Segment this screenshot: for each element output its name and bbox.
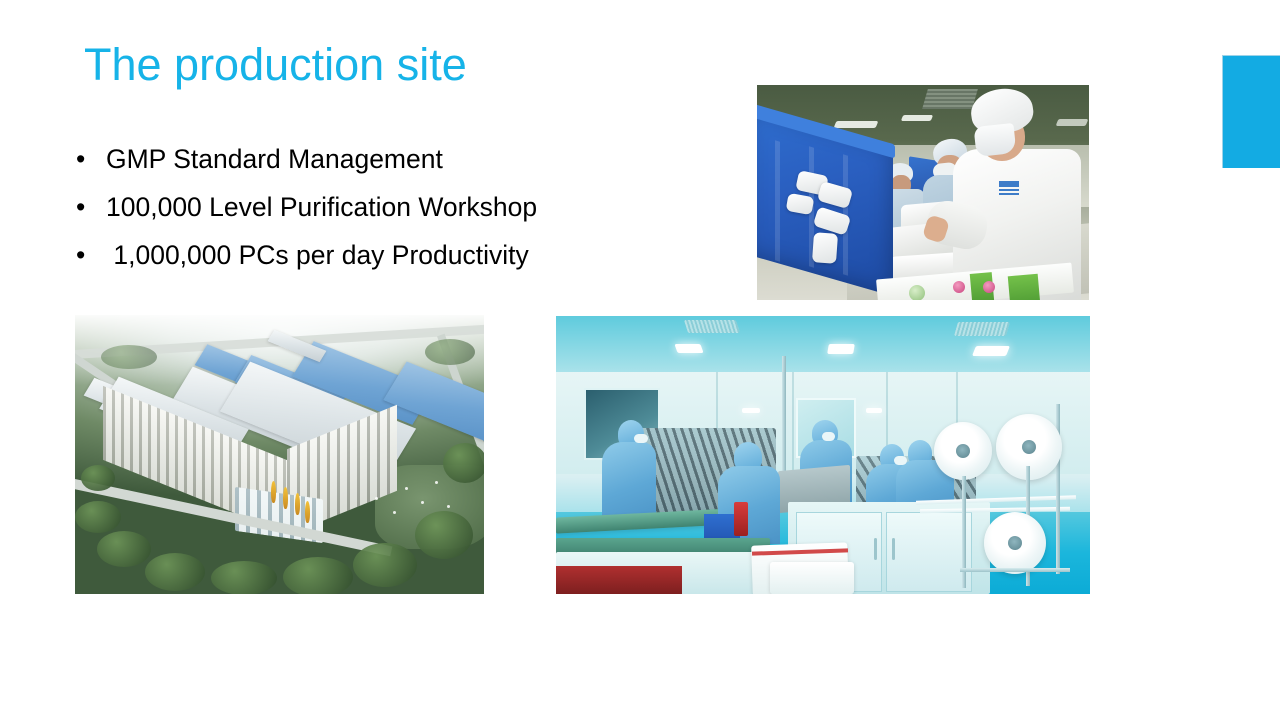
bullet-list: • GMP Standard Management • 100,000 Leve… — [76, 135, 716, 279]
lawn-speck — [421, 501, 424, 504]
tree-cluster — [101, 345, 157, 369]
cabinet-handle — [892, 538, 895, 560]
lawn-speck — [405, 487, 408, 490]
tree-cluster — [443, 443, 484, 483]
tree-cluster — [97, 531, 151, 567]
flagpole — [283, 487, 288, 509]
uniform-logo — [999, 181, 1019, 195]
green-label-band — [1008, 274, 1041, 300]
pink-label-dot — [953, 281, 965, 293]
wall-panel-seam — [792, 364, 794, 474]
ceiling-light — [901, 115, 933, 121]
bullet-text: 100,000 Level Purification Workshop — [106, 183, 716, 231]
ceiling-light — [972, 346, 1010, 356]
tree-cluster — [211, 561, 277, 594]
list-item: • 100,000 Level Purification Workshop — [76, 183, 716, 231]
lawn-speck — [435, 481, 438, 484]
tree-cluster — [353, 543, 417, 587]
cabinet-door — [886, 512, 972, 592]
pink-label-dot — [983, 281, 995, 293]
tree-cluster — [145, 553, 205, 591]
ceiling-light — [827, 344, 855, 354]
ceiling-vent — [684, 320, 740, 333]
face-mask — [634, 434, 648, 443]
ceiling-light — [1056, 119, 1089, 126]
image-production-workers — [757, 85, 1089, 300]
tree-cluster — [75, 501, 121, 533]
bullet-marker-icon: • — [76, 135, 106, 183]
ceiling-vent — [954, 322, 1010, 336]
bullet-text: GMP Standard Management — [106, 135, 716, 183]
flagpole — [271, 481, 276, 503]
flagpole — [295, 493, 300, 515]
page-title: The production site — [84, 40, 467, 90]
tree-cluster — [283, 557, 353, 594]
tree-cluster — [81, 465, 115, 491]
lawn-speck — [375, 497, 378, 500]
roll-hub — [956, 444, 970, 458]
flagpole — [305, 501, 310, 523]
roll-hub — [1008, 536, 1022, 550]
bullet-marker-icon: • — [76, 183, 106, 231]
lawn-speck — [393, 511, 396, 514]
cleanroom-ceiling — [556, 316, 1090, 372]
ceiling-light — [834, 121, 879, 128]
red-bin — [556, 566, 682, 594]
red-container — [734, 502, 748, 536]
tree-cluster — [425, 339, 475, 365]
crate-rib — [775, 140, 780, 261]
slide-canvas: The production site • GMP Standard Manag… — [0, 0, 1280, 720]
list-item: • 1,000,000 PCs per day Productivity — [76, 231, 716, 279]
blue-accent-rectangle — [1222, 55, 1280, 168]
image-factory-campus-aerial — [75, 315, 484, 594]
ceiling-light — [866, 408, 882, 413]
image-cleanroom-production-line — [556, 316, 1090, 594]
lawn-speck — [447, 505, 450, 508]
face-mask — [822, 432, 835, 441]
list-item: • GMP Standard Management — [76, 135, 716, 183]
cabinet-handle — [874, 538, 877, 560]
tree-cluster — [415, 511, 473, 559]
product-stack — [770, 562, 854, 594]
frame-rail — [960, 568, 1070, 572]
ceiling-vent — [922, 89, 978, 109]
ceiling-light — [674, 344, 703, 353]
worker-body — [602, 442, 656, 524]
face-mask — [894, 456, 907, 465]
green-label-dot — [909, 285, 925, 300]
roll-hub — [1022, 440, 1036, 454]
ceiling-light — [742, 408, 760, 413]
white-roll — [812, 232, 838, 264]
bullet-marker-icon: • — [76, 231, 106, 279]
bullet-text: 1,000,000 PCs per day Productivity — [106, 231, 716, 279]
